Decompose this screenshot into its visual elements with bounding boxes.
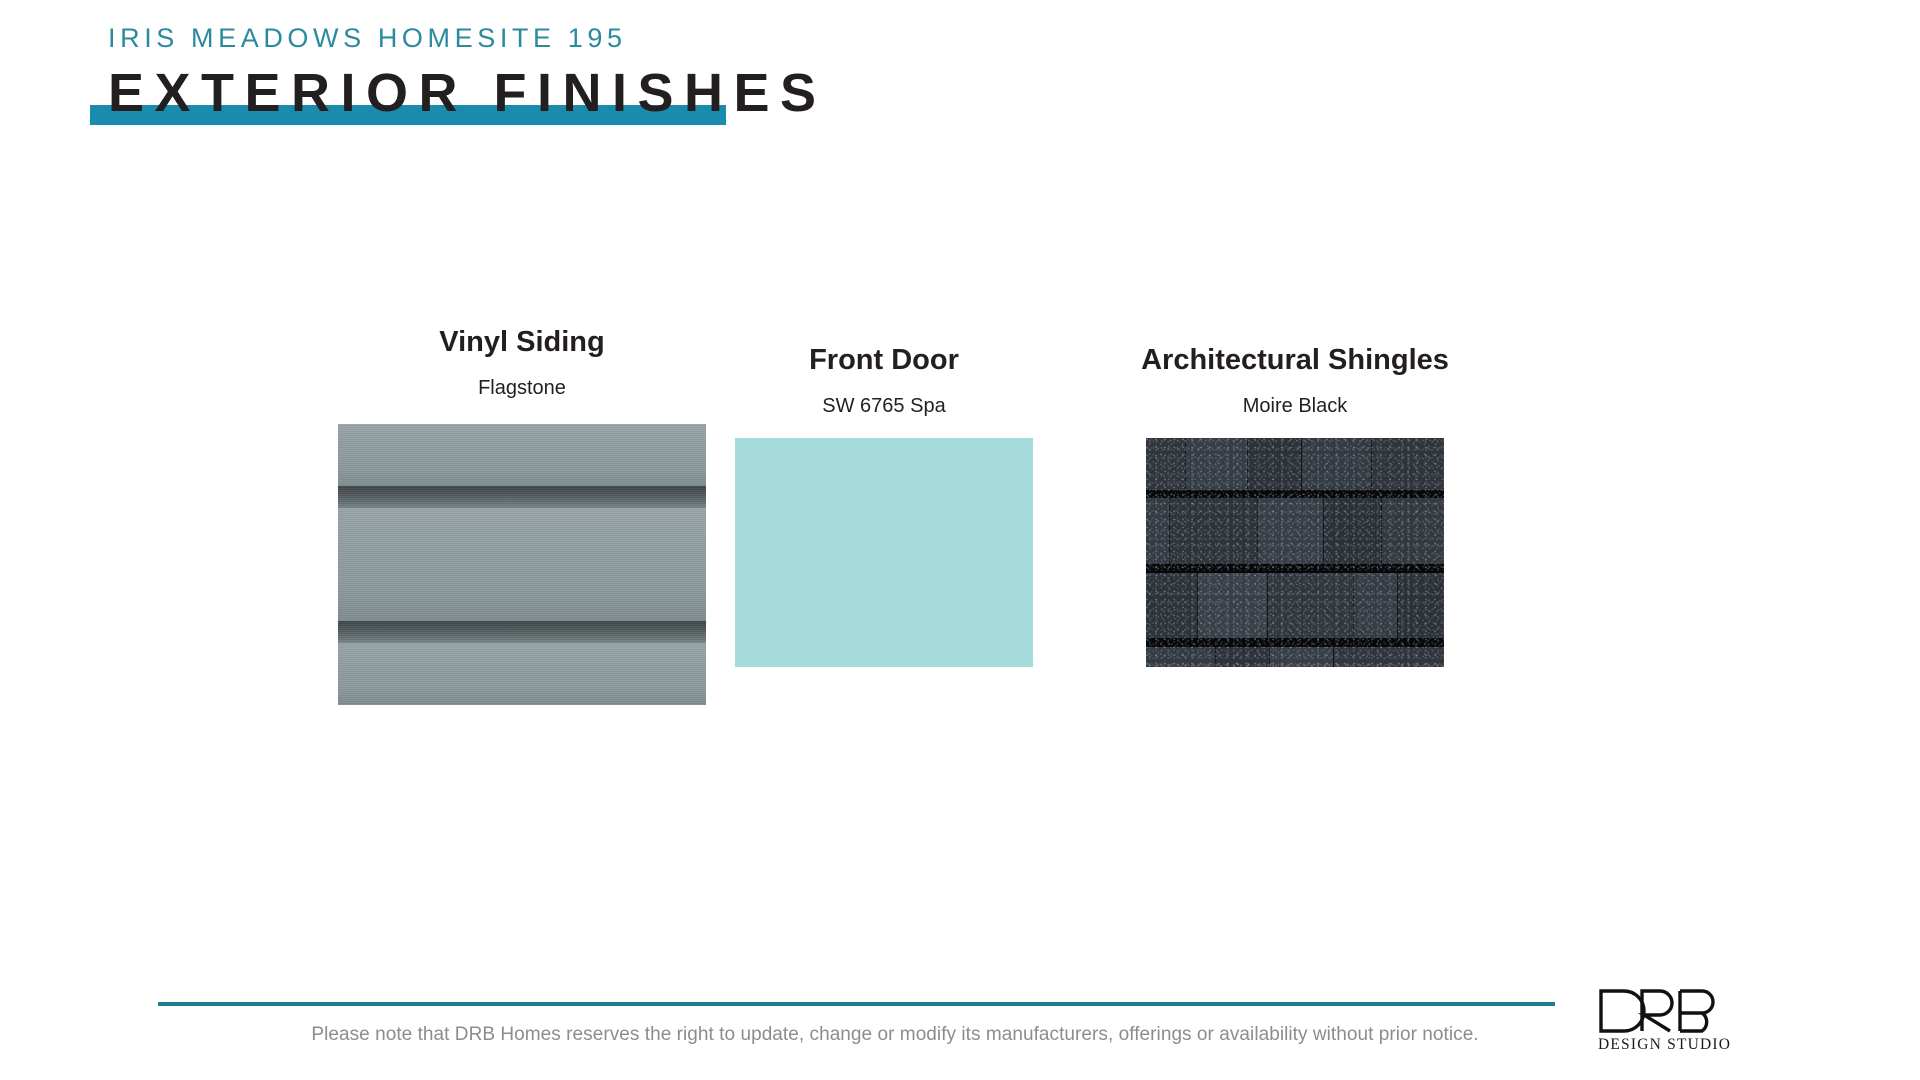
finish-spec: Moire Black — [1040, 394, 1550, 418]
shingle-course — [1146, 573, 1444, 638]
logo-subtitle: DESIGN STUDIO — [1598, 1036, 1734, 1054]
shingle-shadow-line — [1146, 564, 1444, 573]
finish-swatch-vinyl-siding — [338, 424, 706, 705]
drb-wordmark-icon — [1598, 988, 1720, 1034]
finish-name: Architectural Shingles — [1040, 343, 1550, 378]
finish-spec: SW 6765 Spa — [700, 394, 1068, 418]
page-title-group: EXTERIOR FINISHES — [108, 64, 1008, 130]
slide-header: IRIS MEADOWS HOMESITE 195 EXTERIOR FINIS… — [108, 22, 1008, 130]
siding-lap-face — [338, 424, 706, 486]
finish-swatch-front-door — [735, 438, 1033, 667]
finish-card-front-door: Front Door SW 6765 Spa — [700, 343, 1068, 667]
slide-canvas: IRIS MEADOWS HOMESITE 195 EXTERIOR FINIS… — [0, 0, 1920, 1080]
page-title: EXTERIOR FINISHES — [108, 64, 1008, 122]
shingle-shadow-line — [1146, 490, 1444, 498]
shingle-course — [1146, 498, 1444, 564]
finish-name: Vinyl Siding — [338, 325, 706, 360]
finish-spec: Flagstone — [338, 376, 706, 400]
footer-divider — [158, 1002, 1555, 1006]
shingle-course — [1146, 438, 1444, 490]
finish-card-architectural-shingles: Architectural Shingles Moire Black — [1040, 343, 1550, 667]
community-homesite-eyebrow: IRIS MEADOWS HOMESITE 195 — [108, 22, 1008, 56]
siding-lap-face — [338, 643, 706, 705]
shingle-shadow-line — [1146, 638, 1444, 647]
shingle-course — [1146, 647, 1444, 667]
legal-disclaimer: Please note that DRB Homes reserves the … — [0, 1024, 1790, 1046]
drb-design-studio-logo: DESIGN STUDIO — [1598, 988, 1734, 1060]
finish-name: Front Door — [700, 343, 1068, 378]
siding-lap-shadow — [338, 621, 706, 643]
siding-lap-shadow — [338, 486, 706, 508]
finish-swatch-architectural-shingles — [1146, 438, 1444, 667]
finish-card-vinyl-siding: Vinyl Siding Flagstone — [338, 325, 706, 705]
siding-lap-face — [338, 508, 706, 621]
finishes-row: Vinyl Siding Flagstone Front Door SW 676… — [0, 300, 1920, 770]
